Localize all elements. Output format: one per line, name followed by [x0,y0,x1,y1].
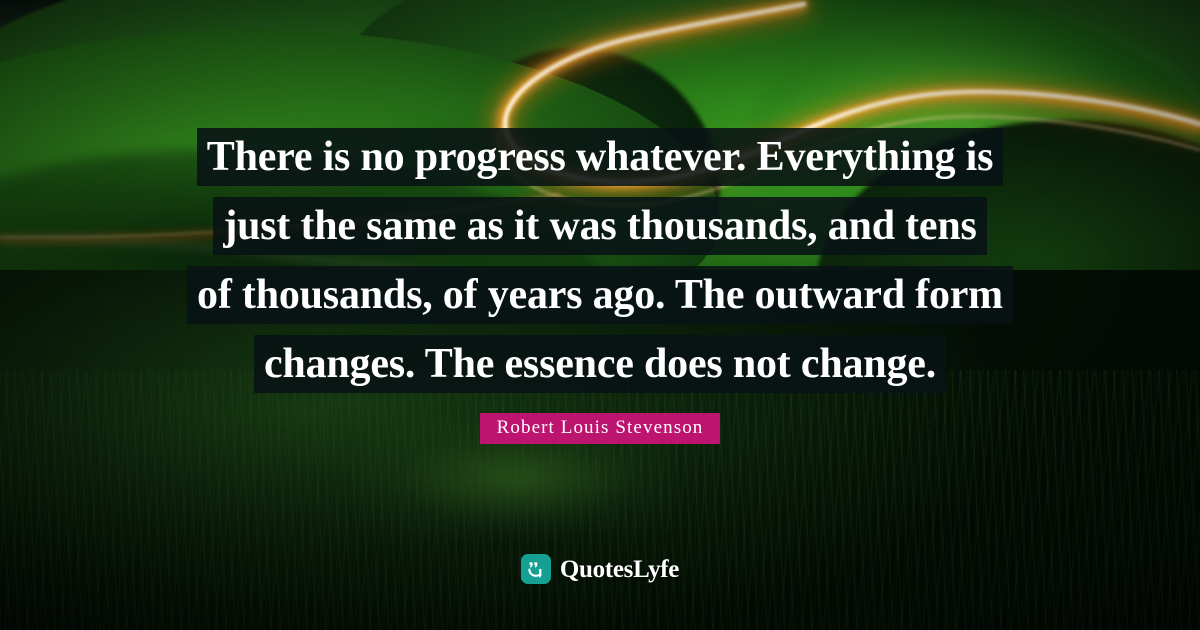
author-name-badge[interactable]: Robert Louis Stevenson [480,413,721,444]
site-logo-text: QuotesLyfe [560,557,679,582]
quote-line-4: changes. The essence does not change. [254,335,946,393]
quote-card: There is no progress whatever. Everythin… [0,0,1200,630]
quote-text-block: There is no progress whatever. Everythin… [0,128,1200,393]
quote-line-3: of thousands, of years ago. The outward … [187,266,1013,324]
quote-line-2: just the same as it was thousands, and t… [213,197,986,255]
site-logo[interactable]: QuotesLyfe [0,554,1200,584]
quote-smiley-icon [521,554,551,584]
author-badge-container: Robert Louis Stevenson [0,413,1200,444]
quote-line-1: There is no progress whatever. Everythin… [197,128,1004,186]
